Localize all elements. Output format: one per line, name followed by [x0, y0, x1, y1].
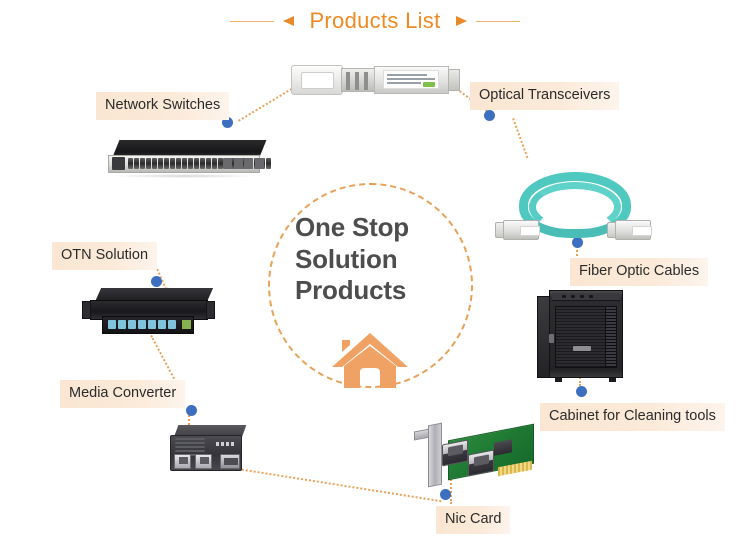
center-headline: One Stop Solution Products — [295, 212, 455, 307]
page-title: Products List — [303, 8, 446, 34]
label-optical-transceivers[interactable]: Optical Transceivers — [470, 82, 619, 110]
label-cabinet[interactable]: Cabinet for Cleaning tools — [540, 403, 725, 431]
label-nic-card[interactable]: Nic Card — [436, 506, 510, 534]
connector-dot-cabinet — [576, 386, 587, 397]
page-title-bar: Products List — [0, 8, 750, 34]
center-headline-line-3: Products — [295, 275, 455, 307]
products-list-infographic: Products List One Stop Solution Products… — [0, 0, 750, 559]
connector-dot-optical-transceivers — [484, 110, 495, 121]
label-media-converter[interactable]: Media Converter — [60, 380, 185, 408]
label-fiber-optic-cables[interactable]: Fiber Optic Cables — [570, 258, 708, 286]
center-headline-line-2: Solution — [295, 244, 455, 276]
label-network-switches[interactable]: Network Switches — [96, 92, 229, 120]
connector-dot-otn-solution — [151, 276, 162, 287]
title-triangle-right-icon — [456, 16, 467, 26]
connector-line-network-switches — [238, 88, 292, 122]
title-rule-right — [476, 21, 520, 22]
label-otn-solution[interactable]: OTN Solution — [52, 242, 157, 270]
connector-line-optical-to-fiber — [512, 118, 528, 158]
title-triangle-left-icon — [283, 16, 294, 26]
house-icon — [330, 330, 410, 388]
title-rule-left — [230, 21, 274, 22]
connector-dot-media-converter — [186, 405, 197, 416]
center-headline-line-1: One Stop — [295, 212, 455, 244]
